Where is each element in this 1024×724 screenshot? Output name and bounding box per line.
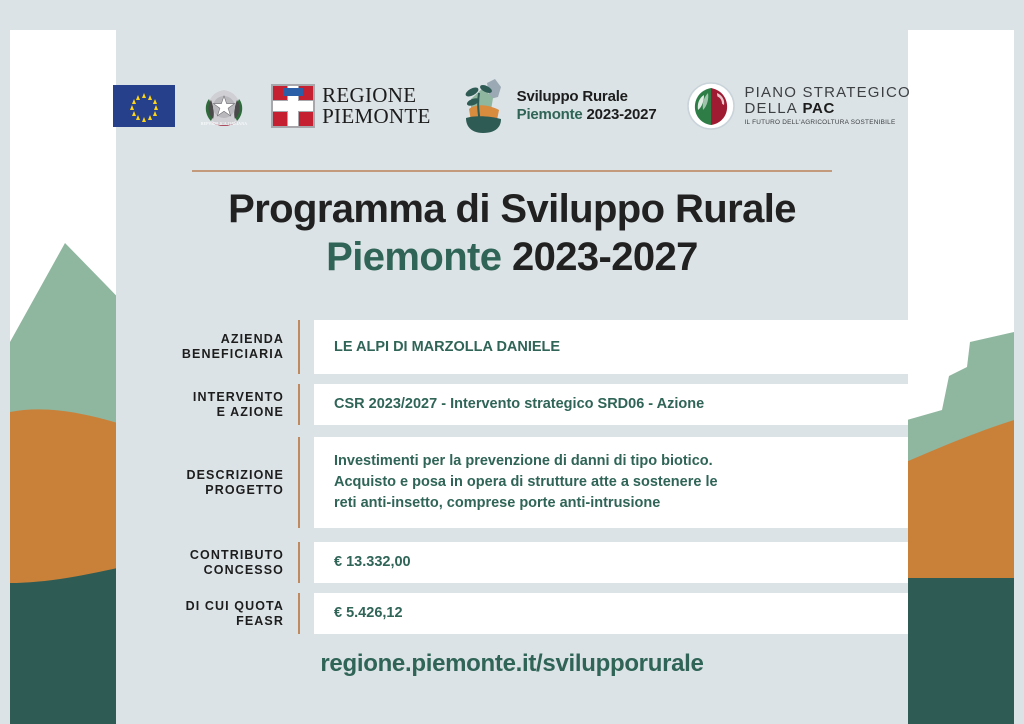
field-value-contributo: € 13.332,00 <box>314 542 908 583</box>
field-value-feasr: € 5.426,12 <box>314 593 908 634</box>
field-label-feasr: DI CUI QUOTA FEASR <box>116 593 298 634</box>
repubblica-italiana-emblem-icon: REPVBBLICA ITALIANA <box>199 81 249 131</box>
project-details-table: AZIENDA BENEFICIARIA LE ALPI DI MARZOLLA… <box>116 320 908 644</box>
eu-flag-logo <box>113 85 175 127</box>
svg-text:REPVBBLICA ITALIANA: REPVBBLICA ITALIANA <box>201 121 248 126</box>
regione-piemonte-wordmark: REGIONE PIEMONTE <box>322 85 431 127</box>
poster-root: REPVBBLICA ITALIANA REGIONE <box>0 0 1024 724</box>
field-accent-bar <box>298 320 300 374</box>
sviluppo-line2-green: Piemonte <box>517 106 583 123</box>
regione-line1: REGIONE <box>322 85 431 106</box>
logo-row: REPVBBLICA ITALIANA REGIONE <box>116 70 908 142</box>
pac-line1: PIANO STRATEGICO <box>744 85 910 101</box>
field-label-intervento: INTERVENTO E AZIONE <box>116 384 298 425</box>
pac-tagline: IL FUTURO DELL'AGRICOLTURA SOSTENIBILE <box>744 120 910 127</box>
field-accent-bar <box>298 593 300 634</box>
field-value-intervento: CSR 2023/2027 - Intervento strategico SR… <box>314 384 908 425</box>
field-label-azienda-line1: AZIENDA <box>221 332 284 347</box>
field-value-intervento-line1: CSR 2023/2027 - Intervento strategico SR… <box>334 394 908 415</box>
pac-line2: DELLA PAC <box>744 101 910 117</box>
field-accent-bar <box>298 384 300 425</box>
piemonte-region-plant-icon <box>457 77 509 135</box>
footer-website-url[interactable]: regione.piemonte.it/svilupporurale <box>116 650 908 678</box>
sviluppo-line1: Sviluppo Rurale <box>517 88 657 106</box>
field-value-feasr-line1: € 5.426,12 <box>334 603 908 624</box>
pac-wordmark: PIANO STRATEGICO DELLA PAC IL FUTURO DEL… <box>744 85 910 126</box>
field-label-descrizione-line2: PROGETTO <box>205 483 284 498</box>
field-value-descrizione-line2: Acquisto e posa in opera di strutture at… <box>334 472 908 493</box>
table-row: DI CUI QUOTA FEASR € 5.426,12 <box>116 593 908 634</box>
field-label-intervento-line1: INTERVENTO <box>193 390 284 405</box>
field-value-descrizione-line3: reti anti-insetto, comprese porte anti-i… <box>334 493 908 514</box>
title-line2: Piemonte 2023-2027 <box>116 233 908 281</box>
field-value-azienda-line1: LE ALPI DI MARZOLLA DANIELE <box>334 337 908 358</box>
pac-circular-emblem-icon <box>686 81 736 131</box>
field-value-descrizione-line1: Investimenti per la prevenzione di danni… <box>334 451 908 472</box>
pac-line2-a: DELLA <box>744 100 802 117</box>
repubblica-italiana-emblem-logo: REPVBBLICA ITALIANA <box>199 81 249 131</box>
poster-frame: REPVBBLICA ITALIANA REGIONE <box>10 30 1014 724</box>
regione-piemonte-cross-icon <box>271 84 315 128</box>
piano-strategico-pac-logo: PIANO STRATEGICO DELLA PAC IL FUTURO DEL… <box>686 81 910 131</box>
regione-line2: PIEMONTE <box>322 106 431 127</box>
field-label-contributo-line2: CONCESSO <box>204 563 284 578</box>
sviluppo-rurale-logo: Sviluppo Rurale Piemonte 2023-2027 <box>457 77 657 135</box>
field-label-descrizione: DESCRIZIONE PROGETTO <box>116 437 298 528</box>
title-line2-green: Piemonte <box>326 235 501 279</box>
page-title: Programma di Sviluppo Rurale Piemonte 20… <box>116 185 908 281</box>
field-label-intervento-line2: E AZIONE <box>217 405 284 420</box>
table-row: INTERVENTO E AZIONE CSR 2023/2027 - Inte… <box>116 384 908 425</box>
field-label-contributo-line1: CONTRIBUTO <box>190 548 284 563</box>
title-line2-dark: 2023-2027 <box>512 235 698 279</box>
regione-piemonte-logo: REGIONE PIEMONTE <box>271 84 431 128</box>
field-accent-bar <box>298 437 300 528</box>
field-value-azienda: LE ALPI DI MARZOLLA DANIELE <box>314 320 908 374</box>
field-value-contributo-line1: € 13.332,00 <box>334 552 908 573</box>
field-label-contributo: CONTRIBUTO CONCESSO <box>116 542 298 583</box>
table-row: CONTRIBUTO CONCESSO € 13.332,00 <box>116 542 908 583</box>
field-label-feasr-line2: FEASR <box>236 614 284 629</box>
field-label-azienda: AZIENDA BENEFICIARIA <box>116 320 298 374</box>
field-value-descrizione: Investimenti per la prevenzione di danni… <box>314 437 908 528</box>
sviluppo-line2-dark: 2023-2027 <box>587 106 657 123</box>
field-accent-bar <box>298 542 300 583</box>
pac-line2-b: PAC <box>803 100 835 117</box>
field-label-descrizione-line1: DESCRIZIONE <box>186 468 284 483</box>
field-label-feasr-line1: DI CUI QUOTA <box>186 599 284 614</box>
title-line1: Programma di Sviluppo Rurale <box>116 185 908 233</box>
field-label-azienda-line2: BENEFICIARIA <box>182 347 284 362</box>
sviluppo-rurale-wordmark: Sviluppo Rurale Piemonte 2023-2027 <box>517 88 657 124</box>
table-row: AZIENDA BENEFICIARIA LE ALPI DI MARZOLLA… <box>116 320 908 374</box>
title-divider-rule <box>192 170 832 172</box>
table-row: DESCRIZIONE PROGETTO Investimenti per la… <box>116 437 908 528</box>
content-panel: REPVBBLICA ITALIANA REGIONE <box>116 30 908 724</box>
european-union-flag-icon <box>113 85 175 127</box>
